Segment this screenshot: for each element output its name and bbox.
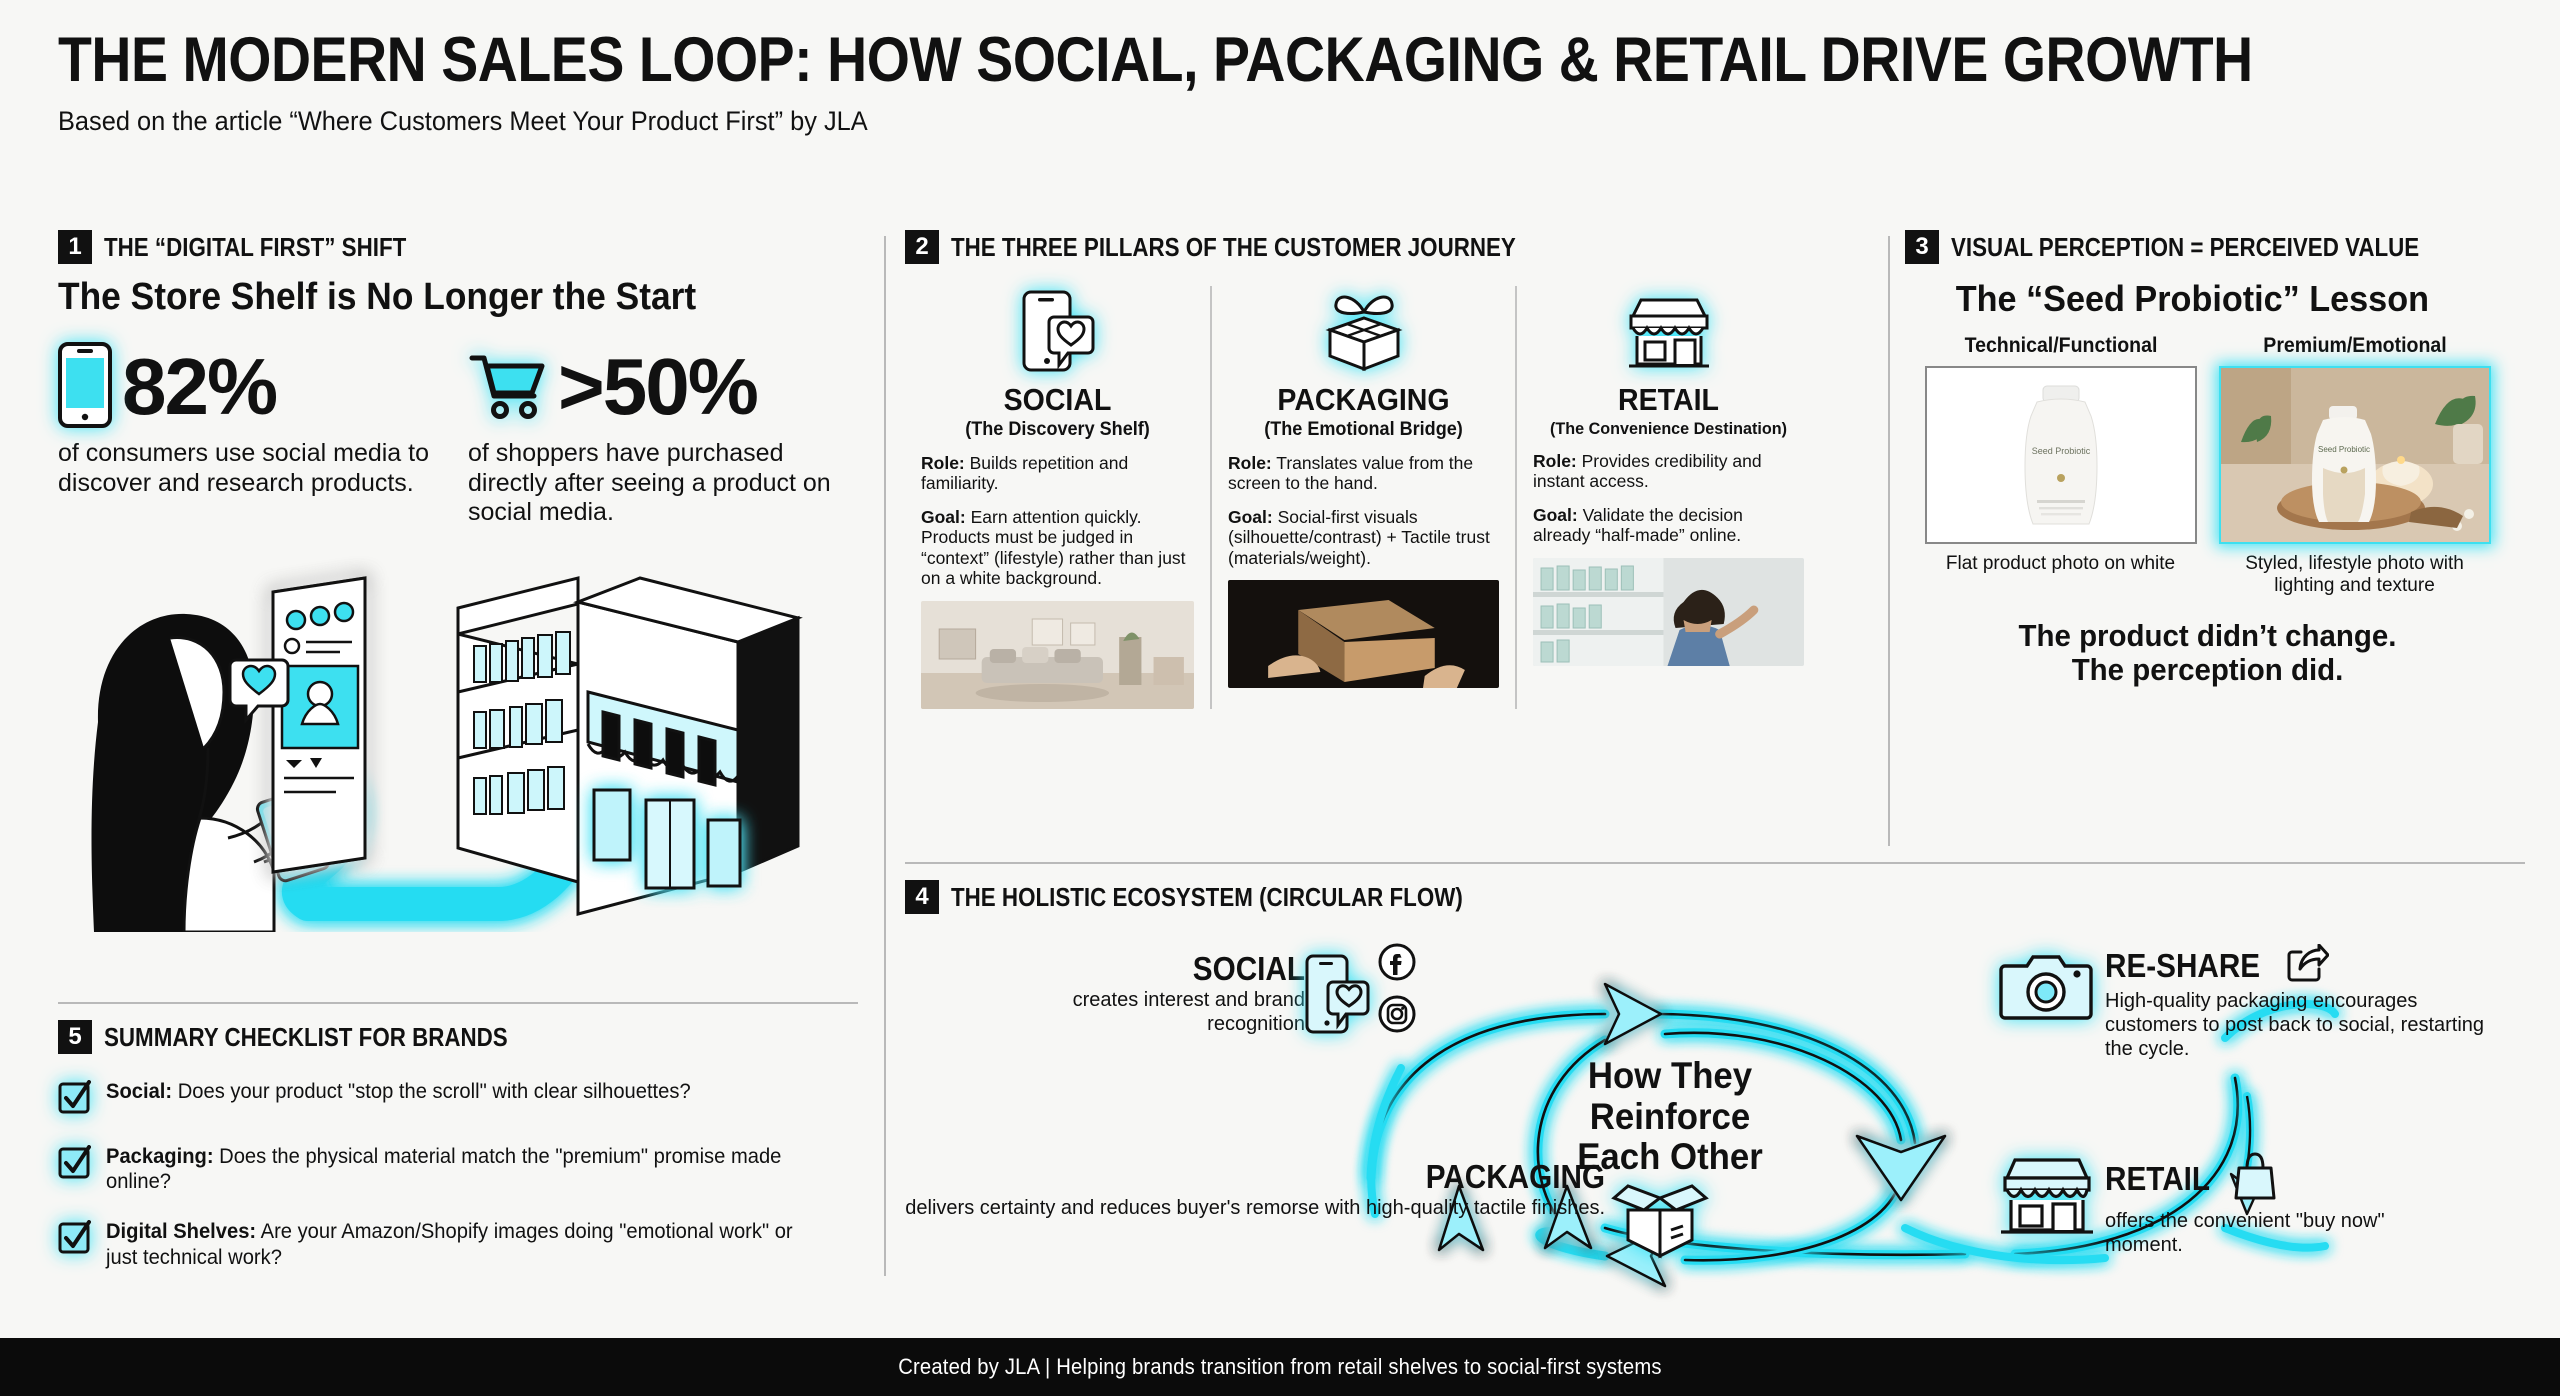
pillar-group: SOCIAL (The Discovery Shelf) Role: Build… bbox=[905, 286, 1890, 709]
checklist-text-social: Does your product "stop the scroll" with… bbox=[172, 1080, 691, 1103]
section4-heading: 4 THE HOLISTIC ECOSYSTEM (CIRCULAR FLOW) bbox=[905, 880, 2525, 914]
checklist-item[interactable]: Digital Shelves: Are your Amazon/Shopify… bbox=[58, 1219, 858, 1269]
stat-group: 82% of consumers use social media to dis… bbox=[58, 341, 878, 528]
shopping-bag-icon bbox=[2234, 1150, 2276, 1207]
cycle-node-title-retail: RETAIL bbox=[2105, 1160, 2210, 1198]
cycle-node-social: SOCIAL creates interest and brand recogn… bbox=[845, 950, 1305, 1036]
footer-text: Created by JLA | Helping brands transiti… bbox=[898, 1354, 1662, 1380]
section3-headline: The “Seed Probiotic” Lesson bbox=[1905, 278, 2480, 320]
store-shelf-building bbox=[458, 578, 798, 914]
center-line-2: Reinforce bbox=[1515, 1097, 1825, 1138]
section3-kicker: VISUAL PERCEPTION = PERCEIVED VALUE bbox=[1951, 232, 2419, 263]
woman-phone-to-store-illustration bbox=[58, 542, 878, 937]
open-box-icon bbox=[1611, 1164, 1709, 1265]
pillar-name-social: SOCIAL bbox=[932, 382, 1183, 418]
comparison-label-premium: Premium/Emotional bbox=[2228, 334, 2481, 358]
column-divider-1 bbox=[884, 236, 886, 1276]
pillar-body-retail: Role: Provides credibility and instant a… bbox=[1533, 451, 1804, 546]
section5-divider bbox=[58, 1002, 858, 1004]
checklist-label-digital-shelves: Digital Shelves: bbox=[106, 1220, 256, 1243]
stat-caption-82: of consumers use social media to discove… bbox=[58, 439, 458, 498]
center-line-1: How They bbox=[1515, 1056, 1825, 1097]
checklist-label-social: Social: bbox=[106, 1080, 172, 1103]
section1-number: 1 bbox=[58, 230, 92, 264]
gift-box-icon bbox=[1228, 286, 1499, 376]
cycle-node-desc-retail: offers the convenient "buy now" moment. bbox=[2105, 1209, 2435, 1257]
comparison-caption-premium: Styled, lifestyle photo with lighting an… bbox=[2219, 553, 2491, 597]
header: THE MODERN SALES LOOP: HOW SOCIAL, PACKA… bbox=[58, 28, 2508, 137]
circular-flow-diagram: How They Reinforce Each Other SOCIAL cre… bbox=[905, 928, 2525, 1318]
pillar-name-packaging: PACKAGING bbox=[1239, 382, 1488, 418]
product-label-premium: Seed Probiotic bbox=[2317, 445, 2369, 454]
checkbox-checked-icon[interactable] bbox=[58, 1080, 92, 1119]
checklist-label-packaging: Packaging: bbox=[106, 1145, 214, 1168]
section5-kicker: SUMMARY CHECKLIST FOR BRANDS bbox=[104, 1022, 508, 1053]
section3-punchline: The product didn’t change. The perceptio… bbox=[1920, 619, 2495, 688]
page-title: THE MODERN SALES LOOP: HOW SOCIAL, PACKA… bbox=[58, 28, 2214, 92]
stat-value-82: 82% bbox=[122, 351, 276, 423]
cycle-node-title-packaging: PACKAGING bbox=[858, 1158, 1605, 1196]
cycle-node-reshare: RE-SHARE High-quality packaging encourag… bbox=[2105, 944, 2525, 1061]
styled-bottle-with-candle-and-plants: Seed Probiotic bbox=[2219, 366, 2491, 544]
white-bottle-on-white-background: Seed Probiotic bbox=[1925, 366, 2197, 544]
stat-card-direct-purchase: >50% of shoppers have purchased directly… bbox=[468, 341, 868, 528]
pillar-goal-label-retail: Goal: bbox=[1533, 505, 1578, 525]
smartphone-icon bbox=[58, 342, 112, 433]
section1-kicker: THE “DIGITAL FIRST” SHIFT bbox=[104, 232, 406, 263]
comparison-premium: Premium/Emotional bbox=[2219, 334, 2491, 597]
checklist-item[interactable]: Social: Does your product "stop the scro… bbox=[58, 1079, 858, 1119]
cycle-node-desc-social: creates interest and brand recognition bbox=[1055, 988, 1305, 1036]
cycle-node-title-social: SOCIAL bbox=[891, 950, 1305, 988]
section-visual-perception: 3 VISUAL PERCEPTION = PERCEIVED VALUE Th… bbox=[1905, 230, 2510, 688]
section-holistic-ecosystem: 4 THE HOLISTIC ECOSYSTEM (CIRCULAR FLOW) bbox=[905, 880, 2525, 1318]
storefront-icon bbox=[1533, 286, 1804, 376]
pillar-role-label-retail: Role: bbox=[1533, 451, 1577, 471]
facebook-icon bbox=[1377, 942, 1417, 987]
comparison-label-technical: Technical/Functional bbox=[1934, 334, 2187, 358]
section-three-pillars: 2 THE THREE PILLARS OF THE CUSTOMER JOUR… bbox=[905, 230, 1890, 709]
comparison-technical: Technical/Functional Seed Probiotic Flat… bbox=[1925, 334, 2197, 597]
pillar-name-retail: RETAIL bbox=[1544, 382, 1793, 418]
cycle-node-retail: RETAIL offers the convenient "buy now" m… bbox=[2105, 1150, 2525, 1257]
section-summary-checklist: 5 SUMMARY CHECKLIST FOR BRANDS Social: D… bbox=[58, 1020, 858, 1270]
section2-number: 2 bbox=[905, 230, 939, 264]
section4-divider bbox=[905, 862, 2525, 864]
camera-icon bbox=[1997, 952, 2095, 1031]
woman-shopping-store-aisle-photo bbox=[1533, 558, 1804, 666]
phone-heart-icon bbox=[921, 286, 1194, 376]
cycle-node-title-reshare: RE-SHARE bbox=[2105, 947, 2260, 985]
cycle-node-desc-reshare: High-quality packaging encourages custom… bbox=[2105, 989, 2505, 1061]
footer-bar: Created by JLA | Helping brands transiti… bbox=[0, 1338, 2560, 1396]
cycle-node-desc-packaging: delivers certainty and reduces buyer's r… bbox=[775, 1196, 1605, 1220]
phone-heart-icon bbox=[1305, 954, 1371, 1039]
pillar-role-label-social: Role: bbox=[921, 453, 965, 473]
stat-card-social-discovery: 82% of consumers use social media to dis… bbox=[58, 341, 458, 528]
section1-heading: 1 THE “DIGITAL FIRST” SHIFT bbox=[58, 230, 878, 264]
share-arrow-icon bbox=[2287, 944, 2329, 987]
comparison-caption-technical: Flat product photo on white bbox=[1925, 553, 2197, 575]
living-room-lifestyle-photo bbox=[921, 601, 1194, 709]
comparison-group: Technical/Functional Seed Probiotic Flat… bbox=[1905, 334, 2510, 597]
storefront-icon bbox=[1995, 1150, 2099, 1241]
pillar-retail: RETAIL (The Convenience Destination) Rol… bbox=[1515, 286, 1820, 709]
pillar-body-packaging: Role: Translates value from the screen t… bbox=[1228, 453, 1499, 568]
stat-value-50: >50% bbox=[558, 351, 757, 423]
cycle-node-packaging: PACKAGING delivers certainty and reduces… bbox=[775, 1158, 1605, 1220]
section2-heading: 2 THE THREE PILLARS OF THE CUSTOMER JOUR… bbox=[905, 230, 1890, 264]
section5-heading: 5 SUMMARY CHECKLIST FOR BRANDS bbox=[58, 1020, 858, 1054]
page-subtitle: Based on the article “Where Customers Me… bbox=[58, 106, 2361, 137]
pillar-packaging: PACKAGING (The Emotional Bridge) Role: T… bbox=[1210, 286, 1515, 709]
pillar-social: SOCIAL (The Discovery Shelf) Role: Build… bbox=[905, 286, 1210, 709]
pillar-goal-label-packaging: Goal: bbox=[1228, 507, 1273, 527]
stat-caption-50: of shoppers have purchased directly afte… bbox=[468, 439, 868, 528]
pillar-body-social: Role: Builds repetition and familiarity.… bbox=[921, 453, 1194, 589]
instagram-icon bbox=[1377, 994, 1417, 1039]
pillar-goal-label-social: Goal: bbox=[921, 507, 966, 527]
pillar-role-label-packaging: Role: bbox=[1228, 453, 1272, 473]
section2-kicker: THE THREE PILLARS OF THE CUSTOMER JOURNE… bbox=[951, 232, 1516, 263]
hands-holding-kraft-box-photo bbox=[1228, 580, 1499, 688]
section3-heading: 3 VISUAL PERCEPTION = PERCEIVED VALUE bbox=[1905, 230, 2510, 264]
section4-kicker: THE HOLISTIC ECOSYSTEM (CIRCULAR FLOW) bbox=[951, 882, 1463, 913]
product-label-technical: Seed Probiotic bbox=[2031, 446, 2090, 456]
section-digital-first-shift: 1 THE “DIGITAL FIRST” SHIFT The Store Sh… bbox=[58, 230, 878, 937]
section5-number: 5 bbox=[58, 1020, 92, 1054]
section4-number: 4 bbox=[905, 880, 939, 914]
checkbox-checked-icon[interactable] bbox=[58, 1220, 92, 1259]
pillar-subtitle-social: (The Discovery Shelf) bbox=[928, 419, 1187, 441]
punchline-line-2: The perception did. bbox=[1920, 653, 2495, 688]
checkbox-checked-icon[interactable] bbox=[58, 1145, 92, 1184]
shopping-cart-icon bbox=[468, 350, 548, 425]
section3-number: 3 bbox=[1905, 230, 1939, 264]
section1-headline: The Store Shelf is No Longer the Start bbox=[58, 276, 821, 319]
checklist-item[interactable]: Packaging: Does the physical material ma… bbox=[58, 1144, 858, 1194]
pillar-subtitle-packaging: (The Emotional Bridge) bbox=[1235, 419, 1492, 441]
pillar-subtitle-retail: (The Convenience Destination) bbox=[1540, 419, 1797, 439]
punchline-line-1: The product didn’t change. bbox=[1920, 619, 2495, 654]
